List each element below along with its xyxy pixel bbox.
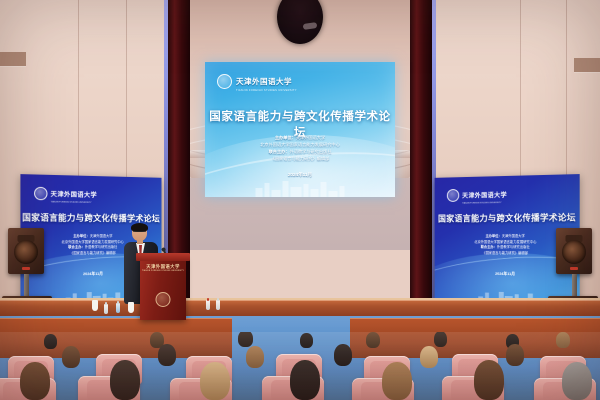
right-banner-logo: 天津外国语大学 TIANJIN FOREIGN STUDIES UNIVERSI… [447, 184, 507, 205]
glasses-icon [133, 231, 146, 235]
credit-row: 联合主办：外语教学与研究出版社 [205, 148, 395, 155]
attendee-head [62, 346, 80, 368]
skyline-graphic-icon [256, 181, 345, 197]
podium-institution-text: 天津外国语大学 [146, 264, 180, 269]
credit-value: 《国家语言与能力研究》编辑部 [271, 156, 330, 161]
attendee-head [334, 344, 352, 366]
left-banner-logo: 天津外国语大学 TIANJIN FOREIGN STUDIES UNIVERSI… [34, 183, 97, 204]
attendee-head [556, 332, 570, 348]
attendee-head [562, 362, 592, 400]
right-banner-title: 国家语言能力与跨文化传播学术论坛 [435, 211, 580, 224]
conference-photo: 天津外国语大学 TIANJIN FOREIGN STUDIES UNIVERSI… [0, 0, 600, 400]
screen-university-logo: 天津外国语大学 TIANJIN FOREIGN STUDIES UNIVERSI… [217, 71, 297, 92]
university-seal-icon [156, 292, 171, 307]
university-seal-icon [34, 186, 47, 200]
left-banner-institution-cn: 天津外国语大学 [51, 191, 97, 199]
credit-value: 天津外国语大学 [296, 135, 325, 140]
credit-value: 天津外国语大学 [502, 234, 525, 238]
attendee-head [474, 360, 504, 400]
attendee-head [506, 344, 524, 366]
audience [0, 332, 600, 400]
screen-event-date: 2024年11月 [205, 172, 395, 178]
paper-cup [92, 300, 98, 311]
university-seal-icon [447, 188, 459, 201]
credit-value: 北京外国语大学国家语言能力发展研究中心 [260, 142, 340, 147]
woofer [14, 240, 38, 264]
credit-label: 主办单位： [73, 234, 90, 238]
attendee-head [366, 332, 380, 348]
screen-institution-en: TIANJIN FOREIGN STUDIES UNIVERSITY [236, 89, 297, 92]
wall-plaque-left [0, 52, 26, 66]
stage-front-face [0, 300, 600, 316]
attendee-head [246, 346, 264, 368]
credit-row: 北京外国语大学国家语言能力发展研究中心 [205, 141, 395, 148]
attendee-head [238, 332, 253, 347]
credit-value: 北京外国语大学国家语言能力发展研究中心 [474, 240, 536, 244]
water-bottle [116, 303, 120, 313]
stage-curtain-right [410, 0, 432, 340]
podium-institution-en: TIANJIN FOREIGN STUDIES UNIVERSITY [140, 270, 186, 272]
podium: 天津外国语大学 TIANJIN FOREIGN STUDIES UNIVERSI… [140, 258, 186, 320]
credit-value: 《国家语言与能力研究》编辑部 [482, 251, 528, 255]
podium-institution-cn: 天津外国语大学 TIANJIN FOREIGN STUDIES UNIVERSI… [140, 264, 186, 272]
right-banner-institution-cn: 天津外国语大学 [462, 192, 507, 200]
credit-value: 《国家语言与能力研究》编辑部 [70, 251, 116, 255]
pa-speaker-right-icon [556, 228, 592, 274]
right-banner-institution-en: TIANJIN FOREIGN STUDIES UNIVERSITY [462, 202, 507, 205]
vent-glint [302, 23, 317, 31]
attendee-head [434, 332, 447, 347]
credit-value: 外语教学与研究出版社 [497, 245, 530, 249]
left-banner-institution-en: TIANJIN FOREIGN STUDIES UNIVERSITY [51, 201, 97, 204]
paper-cup [128, 302, 134, 313]
credit-row: 主办单位：天津外国语大学 [205, 134, 395, 141]
water-bottle [104, 304, 108, 314]
woofer [562, 240, 586, 264]
attendee-head [420, 346, 438, 368]
credit-value: 北京外国语大学国家语言能力发展研究中心 [62, 240, 124, 244]
water-bottle [216, 300, 220, 310]
attendee-head [20, 362, 50, 400]
pa-speaker-left-icon [8, 228, 44, 274]
credit-label: 联合主办： [68, 245, 85, 249]
wall-plaque-right [574, 58, 600, 72]
credit-row: 《国家语言与能力研究》编辑部 [205, 155, 395, 162]
credit-label: 主办单位： [275, 135, 296, 140]
credit-label: 联合主办： [269, 149, 290, 154]
attendee-head [290, 360, 320, 400]
attendee-head [44, 334, 57, 349]
credit-label: 主办单位： [486, 234, 502, 238]
credit-label: 联合主办： [481, 245, 497, 249]
credit-value: 外语教学与研究出版社 [85, 245, 118, 249]
water-bottle [206, 300, 210, 310]
credit-value: 天津外国语大学 [90, 234, 113, 238]
main-presentation-screen: 天津外国语大学 TIANJIN FOREIGN STUDIES UNIVERSI… [205, 62, 395, 197]
attendee-head [300, 333, 313, 348]
university-seal-icon [217, 74, 232, 89]
speaker-badge [570, 267, 578, 270]
attendee-head [110, 360, 140, 400]
screen-credits: 主办单位：天津外国语大学 北京外国语大学国家语言能力发展研究中心 联合主办：外语… [205, 134, 395, 162]
podium-top [136, 253, 190, 261]
attendee-head [158, 344, 176, 366]
credit-value: 外语教学与研究出版社 [290, 149, 332, 154]
screen-institution-cn: 天津外国语大学 [236, 77, 292, 86]
speaker-badge [22, 267, 30, 270]
attendee-head [200, 362, 230, 400]
attendee-head [382, 362, 412, 400]
